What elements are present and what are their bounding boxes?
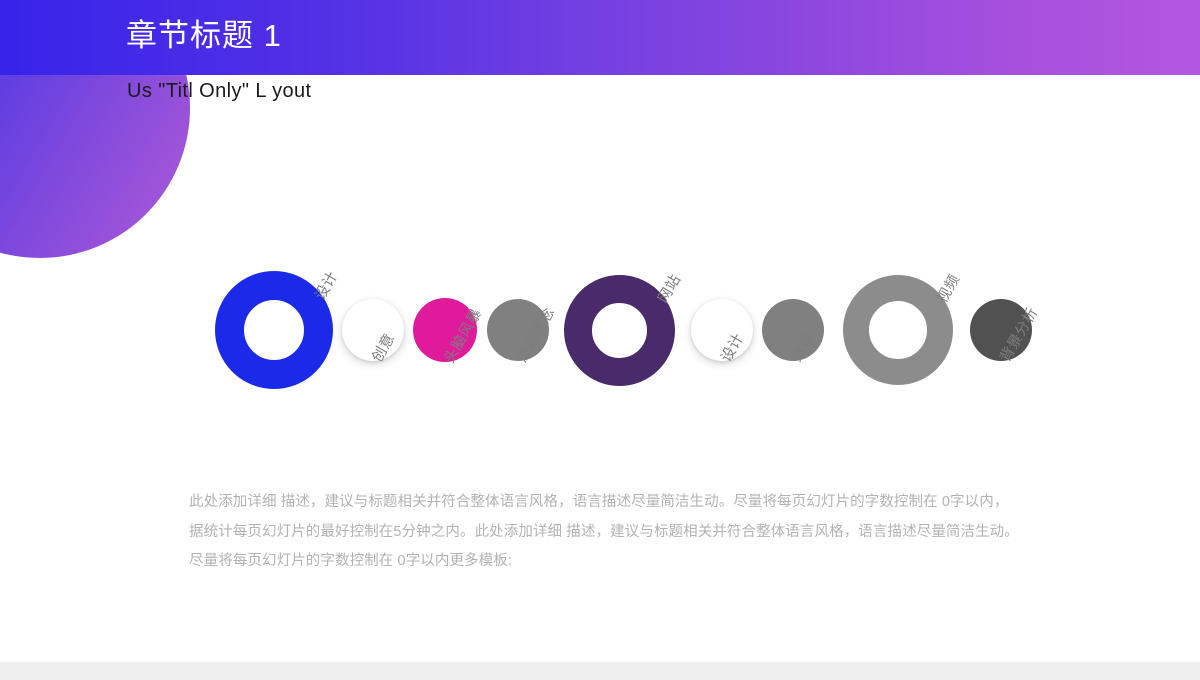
page-title: 章节标题 1 (126, 14, 282, 58)
footer-bar (0, 662, 1200, 680)
description-paragraph: 此处添加详细 描述，建议与标题相关并符合整体语言风格，语言描述尽量简洁生动。尽量… (189, 488, 1041, 577)
description-line-1: 此处添加详细 描述，建议与标题相关并符合整体语言风格，语言描述尽量简洁生动。尽量… (189, 488, 1041, 518)
description-line-3: 尽量将每页幻灯片的字数控制在 0字以内更多模板: (189, 547, 1041, 577)
description-line-2: 据统计每页幻灯片的最好控制在5分钟之内。此处添加详细 描述，建议与标题相关并符合… (189, 518, 1041, 548)
slide-canvas: 章节标题 1 Us "Titl Only" L yout 设计创意头脑风暴原始理… (0, 0, 1200, 680)
page-subtitle: Us "Titl Only" L yout (127, 76, 312, 106)
